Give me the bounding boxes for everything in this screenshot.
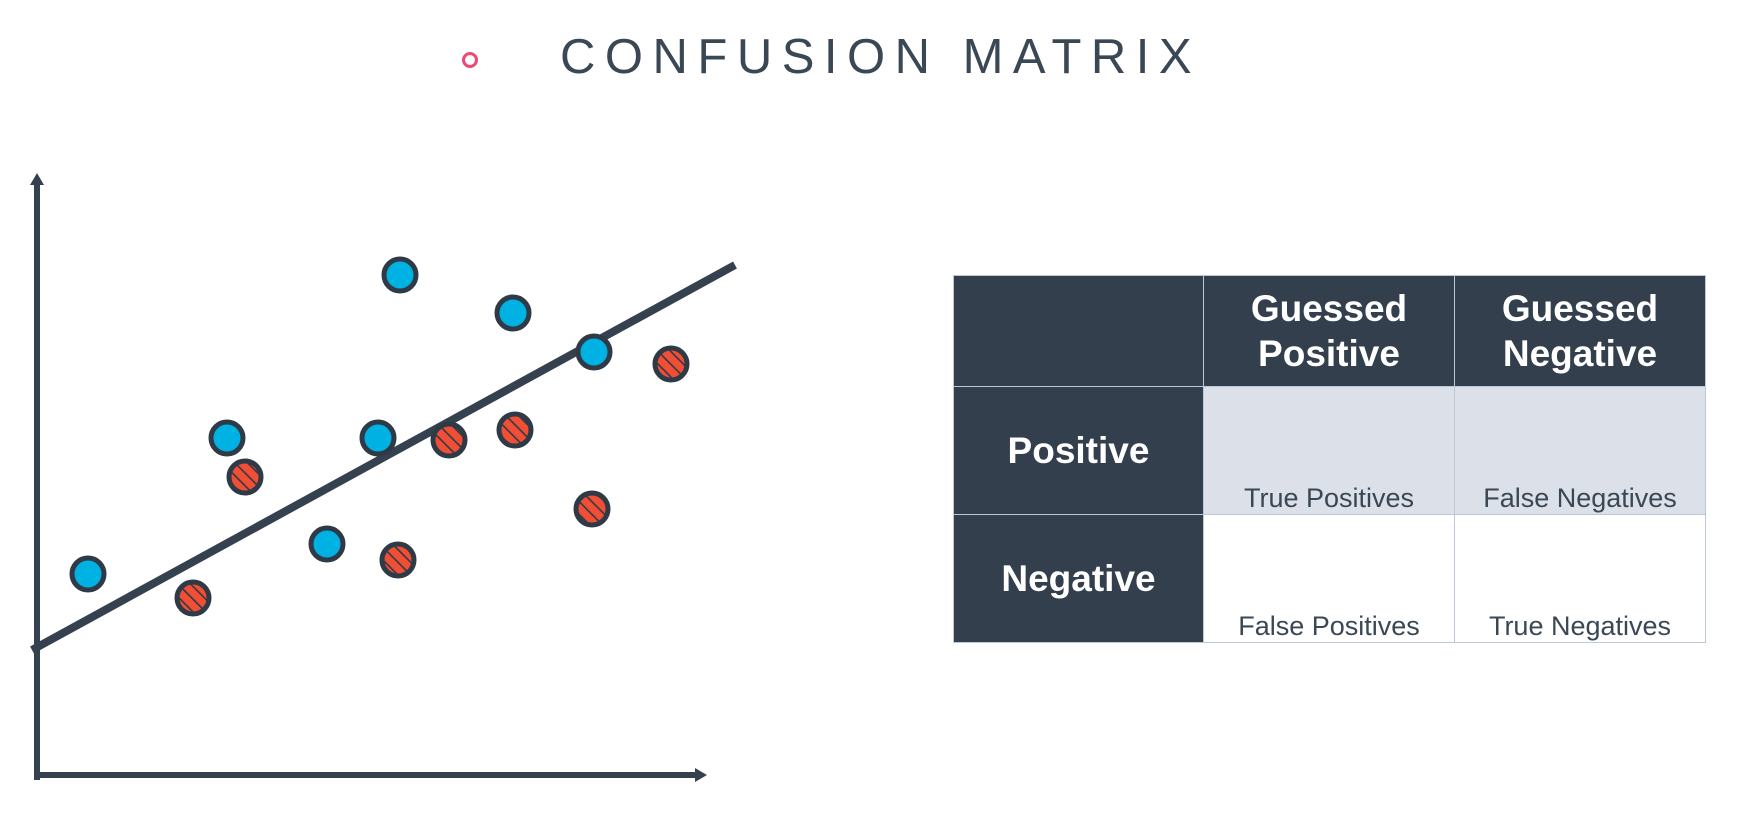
table-row: Positive True Positives False Negatives bbox=[954, 387, 1706, 515]
chart-axes bbox=[37, 180, 700, 780]
data-point-red bbox=[433, 424, 465, 456]
column-header-guessed-positive: Guessed Positive bbox=[1204, 276, 1455, 387]
data-point-blue bbox=[578, 336, 610, 368]
data-point-red bbox=[177, 582, 209, 614]
row-label-positive: Positive bbox=[954, 387, 1204, 515]
red-point-group bbox=[177, 348, 687, 614]
data-point-red bbox=[499, 414, 531, 446]
data-point-blue bbox=[72, 558, 104, 590]
data-point-blue bbox=[311, 528, 343, 560]
decision-boundary-line bbox=[32, 265, 735, 650]
circle-outline-icon bbox=[462, 52, 478, 68]
title-block: CONFUSION MATRIX bbox=[0, 0, 1752, 130]
table-header-row: Guessed Positive Guessed Negative bbox=[954, 276, 1706, 387]
page-title: CONFUSION MATRIX bbox=[560, 28, 1201, 87]
row-label-negative: Negative bbox=[954, 515, 1204, 643]
scatter-plot bbox=[0, 140, 830, 820]
cell-false-negatives: False Negatives bbox=[1455, 387, 1706, 515]
data-point-blue bbox=[497, 297, 529, 329]
data-point-red bbox=[576, 493, 608, 525]
data-point-red bbox=[655, 348, 687, 380]
column-header-line2: Positive bbox=[1204, 331, 1454, 376]
table-row: Negative False Positives True Negatives bbox=[954, 515, 1706, 643]
data-point-blue bbox=[211, 422, 243, 454]
column-header-line2: Negative bbox=[1455, 331, 1705, 376]
data-point-blue bbox=[362, 422, 394, 454]
cell-false-positives: False Positives bbox=[1204, 515, 1455, 643]
corner-cell bbox=[954, 276, 1204, 387]
data-point-red bbox=[229, 461, 261, 493]
scatter-plot-svg bbox=[0, 140, 830, 820]
column-header-line1: Guessed bbox=[1455, 286, 1705, 331]
data-point-red bbox=[382, 544, 414, 576]
cell-true-positives: True Positives bbox=[1204, 387, 1455, 515]
data-point-blue bbox=[384, 259, 416, 291]
cell-true-negatives: True Negatives bbox=[1455, 515, 1706, 643]
column-header-guessed-negative: Guessed Negative bbox=[1455, 276, 1706, 387]
confusion-matrix-table: Guessed Positive Guessed Negative Positi… bbox=[953, 275, 1706, 643]
column-header-line1: Guessed bbox=[1204, 286, 1454, 331]
